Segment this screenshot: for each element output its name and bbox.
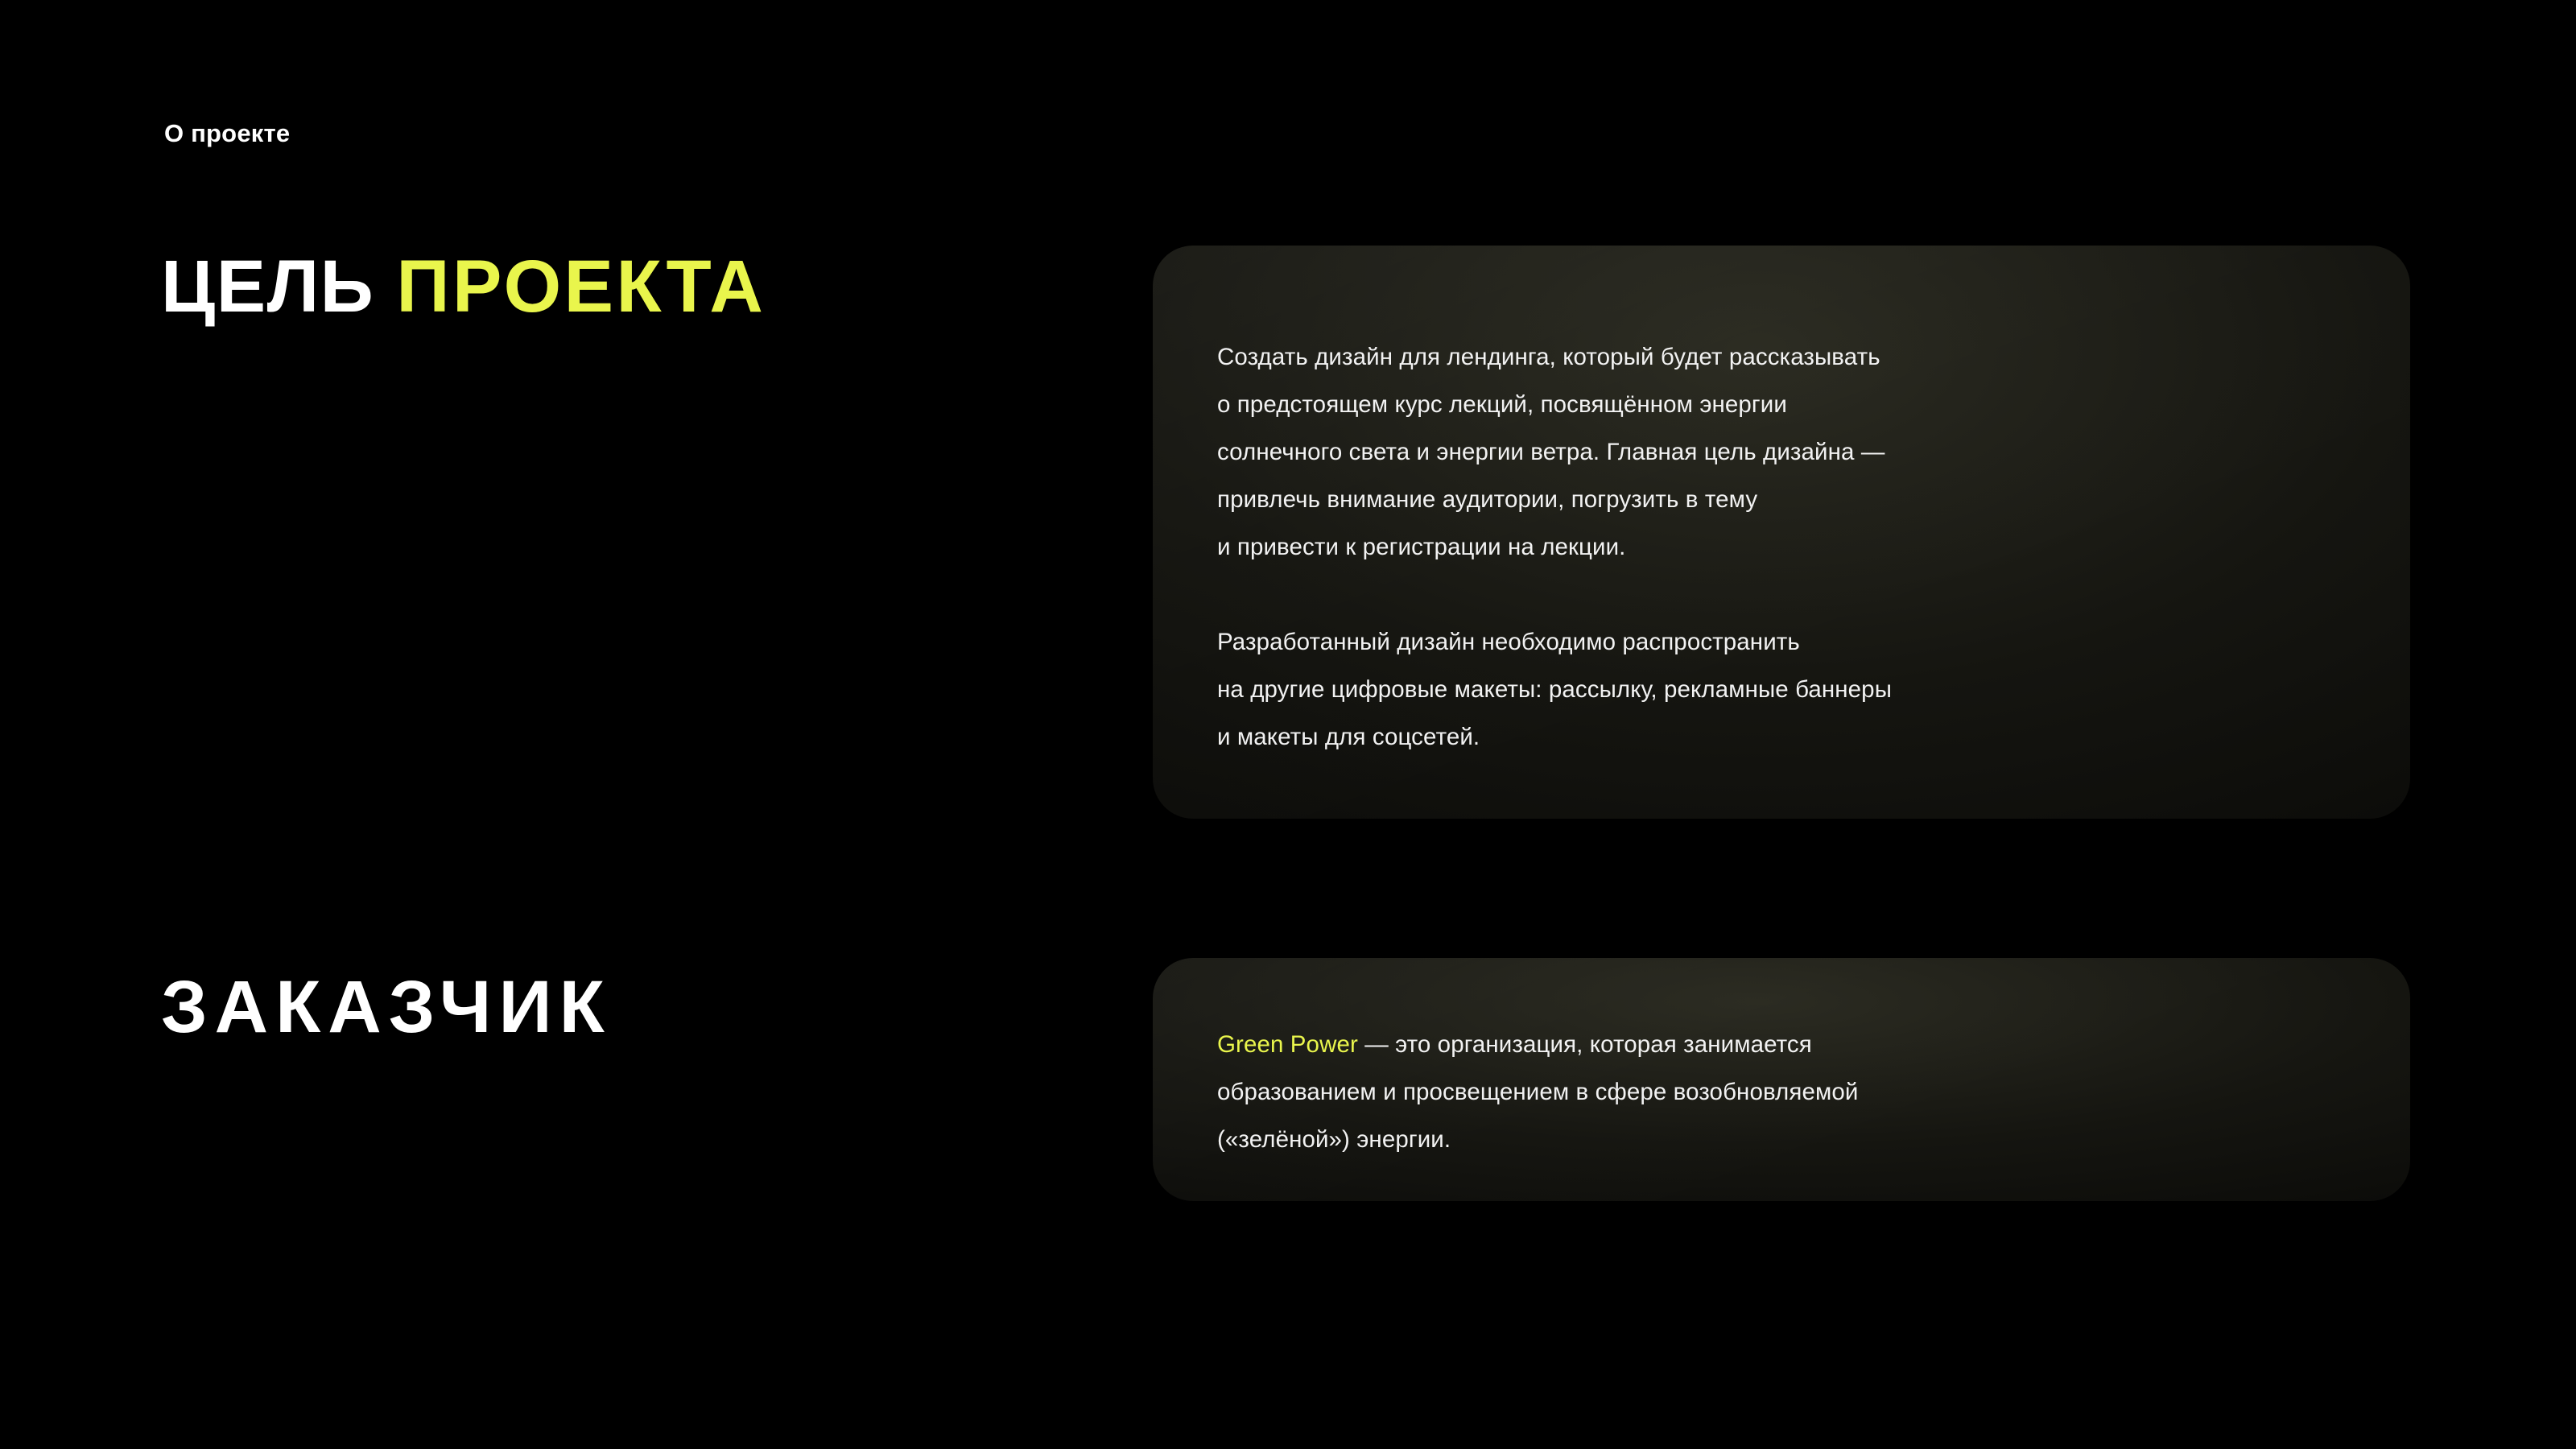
client-card-body: Green Power — это организация, которая з… — [1217, 1021, 2362, 1163]
client-description-card: Green Power — это организация, которая з… — [1153, 958, 2410, 1201]
client-paragraph: Green Power — это организация, которая з… — [1217, 1021, 2362, 1163]
goal-title-part-accent: ПРОЕКТА — [396, 246, 766, 328]
goal-p1-line-5: и привести к регистрации на лекции. — [1217, 523, 2362, 571]
goal-p1-line-2: о предстоящем курс лекций, посвящённом э… — [1217, 381, 2362, 428]
client-line-2: образованием и просвещением в сфере возо… — [1217, 1068, 2362, 1116]
goal-card-body: Создать дизайн для лендинга, который буд… — [1217, 333, 2362, 761]
goal-paragraph-2: Разработанный дизайн необходимо распрост… — [1217, 618, 2362, 761]
goal-title-part-white: ЦЕЛЬ — [161, 246, 396, 328]
client-line-1-rest: — это организация, которая занимается — [1358, 1031, 1812, 1058]
goal-p1-line-1: Создать дизайн для лендинга, который буд… — [1217, 333, 2362, 381]
goal-description-card: Создать дизайн для лендинга, который буд… — [1153, 246, 2410, 819]
goal-paragraph-1: Создать дизайн для лендинга, который буд… — [1217, 333, 2362, 571]
section-eyebrow-label: О проекте — [164, 118, 290, 148]
page-title-client: ЗАКАЗЧИК — [161, 970, 612, 1044]
client-line-1: Green Power — это организация, которая з… — [1217, 1021, 2362, 1068]
goal-p1-line-4: привлечь внимание аудитории, погрузить в… — [1217, 476, 2362, 523]
goal-p2-line-2: на другие цифровые макеты: рассылку, рек… — [1217, 666, 2362, 713]
goal-p1-line-3: солнечного света и энергии ветра. Главна… — [1217, 428, 2362, 476]
page-title-goal: ЦЕЛЬ ПРОЕКТА — [161, 250, 766, 324]
goal-p2-line-1: Разработанный дизайн необходимо распрост… — [1217, 618, 2362, 666]
slide-root: О проекте ЦЕЛЬ ПРОЕКТА Создать дизайн дл… — [0, 0, 2576, 1449]
goal-p2-line-3: и макеты для соцсетей. — [1217, 713, 2362, 761]
client-brand-name: Green Power — [1217, 1031, 1358, 1058]
client-line-3: («зелёной») энергии. — [1217, 1116, 2362, 1163]
